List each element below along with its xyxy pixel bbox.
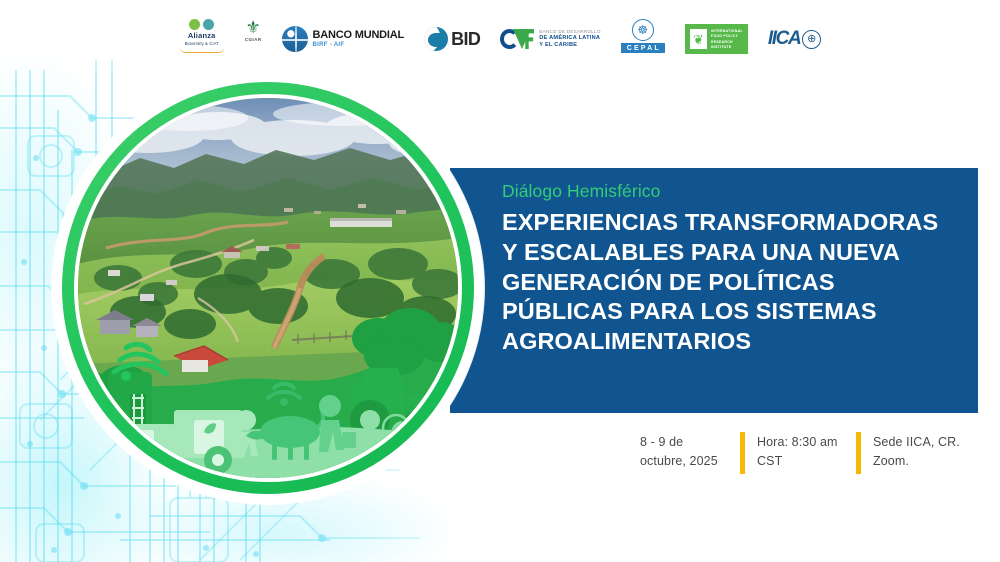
title-line-3: GENERACIÓN DE POLÍTICAS: [502, 268, 964, 298]
title-line-4: PÚBLICAS PARA LOS SISTEMAS: [502, 297, 964, 327]
iica-globe-icon: ⊕: [802, 30, 821, 49]
caf-logo-line2: Y EL CARIBE: [539, 42, 600, 49]
world-bank-logo-title: BANCO MUNDIAL: [313, 30, 405, 41]
logo-cgiar: ⚜ CGIAR: [245, 19, 262, 59]
logo-alliance-bioversity-ciat: Alianza Bioversity & CIAT: [179, 19, 225, 59]
logo-caf: BANCO DE DESARROLLO DE AMÉRICA LATINA Y …: [500, 19, 600, 59]
event-location: Sede IICA, CR. Zoom.: [856, 432, 976, 474]
event-location-text: Sede IICA, CR. Zoom.: [873, 432, 960, 474]
cgiar-logo-title: CGIAR: [245, 37, 262, 42]
logo-iica: IICA ⊕: [768, 19, 821, 59]
united-nations-icon: ☸: [632, 19, 654, 41]
event-title: EXPERIENCIAS TRANSFORMADORAS Y ESCALABLE…: [502, 208, 964, 357]
event-details-row: 8 - 9 de octubre, 2025 Hora: 8:30 am CST…: [640, 432, 980, 492]
hero-circle: [52, 72, 484, 504]
world-bank-logo-subtitle: BIRF - AIF: [313, 42, 405, 48]
event-date-text: 8 - 9 de octubre, 2025: [640, 432, 718, 472]
alliance-arc-icon: [179, 46, 225, 53]
alliance-leaf-icon: [189, 19, 214, 30]
title-banner: Diálogo Hemisférico EXPERIENCIAS TRANSFO…: [450, 168, 978, 413]
event-time-text: Hora: 8:30 am CST: [757, 432, 838, 474]
event-time: Hora: 8:30 am CST: [740, 432, 856, 474]
ifpri-line4: INSTITUTE: [711, 45, 743, 49]
bid-swirl-icon: [424, 27, 448, 51]
event-date: 8 - 9 de octubre, 2025: [640, 432, 740, 472]
alliance-logo-title: Alianza: [188, 31, 216, 40]
title-line-1: EXPERIENCIAS TRANSFORMADORAS: [502, 208, 964, 238]
globe-icon: [282, 26, 308, 52]
cgiar-plant-icon: ⚜: [246, 19, 261, 36]
ifpri-line3: RESEARCH: [711, 40, 743, 44]
ifpri-leaf-icon: ❦: [690, 29, 707, 49]
logo-cepal: ☸ CEPAL: [621, 19, 665, 59]
logo-ifpri: ❦ INTERNATIONAL FOOD POLICY RESEARCH INS…: [685, 24, 748, 54]
hero-photo-rural-landscape: [78, 98, 458, 478]
divider-bar-2: [856, 432, 861, 474]
poster-canvas: Alianza Bioversity & CIAT ⚜ CGIAR BANCO …: [0, 0, 1000, 562]
caf-monogram-icon: [500, 29, 534, 49]
title-line-5: AGROALIMENTARIOS: [502, 327, 964, 357]
sponsor-logo-strip: Alianza Bioversity & CIAT ⚜ CGIAR BANCO …: [0, 16, 1000, 62]
caf-logo-line1: DE AMÉRICA LATINA: [539, 35, 600, 42]
title-line-2: Y ESCALABLES PARA UNA NUEVA: [502, 238, 964, 268]
logo-world-bank: BANCO MUNDIAL BIRF - AIF: [282, 19, 405, 59]
iica-logo-title: IICA: [768, 28, 800, 50]
ifpri-line2: FOOD POLICY: [711, 34, 743, 38]
cepal-logo-title: CEPAL: [621, 43, 665, 53]
logo-bid: BID: [424, 19, 480, 59]
bid-logo-title: BID: [451, 29, 480, 50]
ifpri-line1: INTERNATIONAL: [711, 29, 743, 33]
divider-bar-1: [740, 432, 745, 474]
event-kicker: Diálogo Hemisférico: [502, 182, 964, 201]
